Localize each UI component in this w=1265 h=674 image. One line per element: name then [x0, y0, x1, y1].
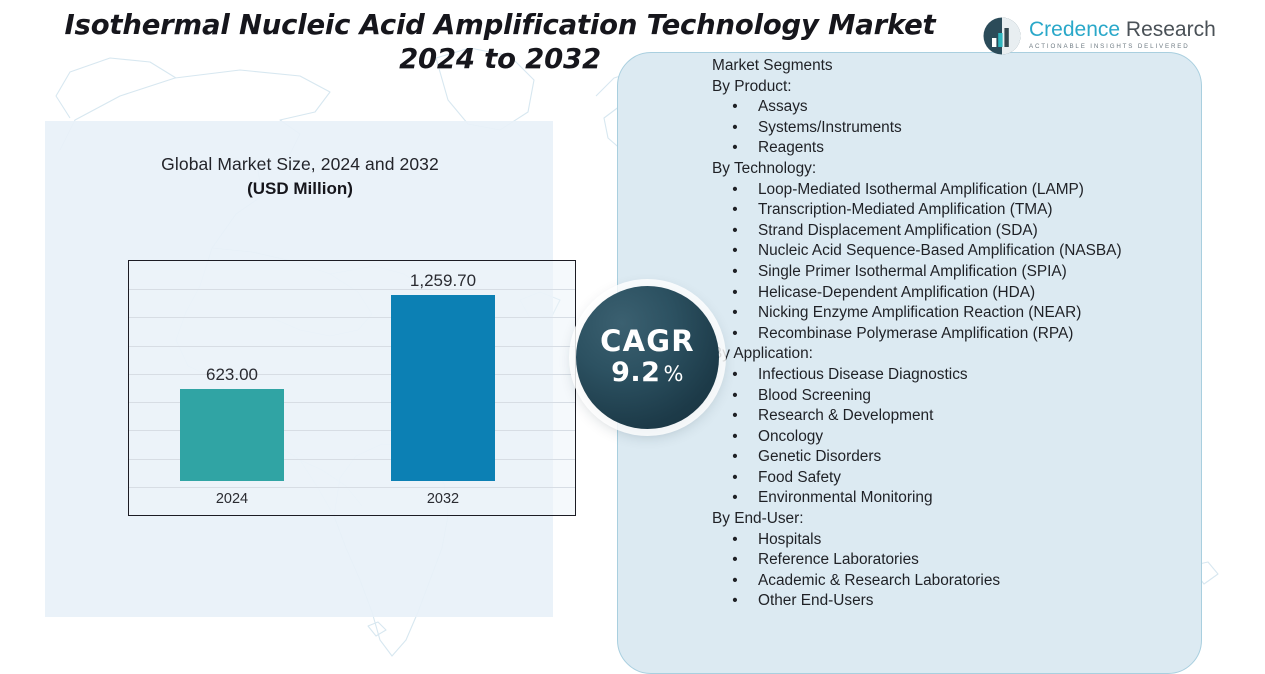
bullet-icon: •: [712, 200, 758, 221]
segment-list-item[interactable]: •Transcription-Mediated Amplification (T…: [712, 200, 1202, 221]
chart-heading: Global Market Size, 2024 and 2032 (USD M…: [60, 152, 540, 202]
segment-list-item[interactable]: •Research & Development: [712, 406, 1202, 427]
chart-bar-value-label: 623.00: [152, 365, 312, 385]
segment-list-item[interactable]: •Infectious Disease Diagnostics: [712, 365, 1202, 386]
bullet-icon: •: [712, 262, 758, 283]
segment-item-label: Infectious Disease Diagnostics: [758, 365, 1202, 386]
bullet-icon: •: [712, 530, 758, 551]
segment-item-label: Reagents: [758, 138, 1202, 159]
logo-word-credence: Credence: [1029, 18, 1120, 41]
segment-list-item[interactable]: •Strand Displacement Amplification (SDA): [712, 221, 1202, 242]
bullet-icon: •: [712, 488, 758, 509]
segment-item-label: Recombinase Polymerase Amplification (RP…: [758, 324, 1202, 345]
bullet-icon: •: [712, 138, 758, 159]
segment-list-item[interactable]: •Helicase-Dependent Amplification (HDA): [712, 283, 1202, 304]
market-segments-content: Market Segments By Product:•Assays•Syste…: [712, 56, 1202, 612]
segment-item-label: Academic & Research Laboratories: [758, 571, 1202, 592]
segment-item-label: Research & Development: [758, 406, 1202, 427]
segment-item-label: Transcription-Mediated Amplification (TM…: [758, 200, 1202, 221]
logo-tagline: Actionable Insights Delivered: [1029, 43, 1216, 50]
segment-list-item[interactable]: •Blood Screening: [712, 386, 1202, 407]
segment-list-item[interactable]: •Systems/Instruments: [712, 118, 1202, 139]
bullet-icon: •: [712, 427, 758, 448]
segment-item-label: Single Primer Isothermal Amplification (…: [758, 262, 1202, 283]
bullet-icon: •: [712, 365, 758, 386]
segment-list-item[interactable]: •Nucleic Acid Sequence-Based Amplificati…: [712, 241, 1202, 262]
segment-item-label: Nucleic Acid Sequence-Based Amplificatio…: [758, 241, 1202, 262]
logo-wordmark: Credence Research: [1029, 18, 1216, 41]
segment-list-item[interactable]: •Academic & Research Laboratories: [712, 571, 1202, 592]
bar-chart: 623.0020241,259.702032: [128, 260, 576, 516]
segment-group-title: By Product:: [712, 77, 1202, 98]
segment-group-title: By Technology:: [712, 159, 1202, 180]
chart-title: Global Market Size, 2024 and 2032: [60, 152, 540, 176]
segment-list-item[interactable]: •Nicking Enzyme Amplification Reaction (…: [712, 303, 1202, 324]
segment-list-item[interactable]: •Reagents: [712, 138, 1202, 159]
bullet-icon: •: [712, 468, 758, 489]
bar-chart-circle-icon: [982, 16, 1022, 56]
chart-subtitle: (USD Million): [60, 176, 540, 202]
segments-groups: By Product:•Assays•Systems/Instruments•R…: [712, 77, 1202, 612]
bullet-icon: •: [712, 221, 758, 242]
segment-list-item[interactable]: •Oncology: [712, 427, 1202, 448]
bullet-icon: •: [712, 118, 758, 139]
bullet-icon: •: [712, 550, 758, 571]
segment-list-item[interactable]: •Reference Laboratories: [712, 550, 1202, 571]
bullet-icon: •: [712, 571, 758, 592]
bullet-icon: •: [712, 97, 758, 118]
segment-item-label: Food Safety: [758, 468, 1202, 489]
segment-group-title: By Application:: [712, 344, 1202, 365]
bullet-icon: •: [712, 283, 758, 304]
segment-item-label: Systems/Instruments: [758, 118, 1202, 139]
cagr-badge: CAGR 9.2%: [576, 286, 719, 429]
cagr-number: 9.2: [611, 357, 660, 388]
segment-item-label: Hospitals: [758, 530, 1202, 551]
segments-heading: Market Segments: [712, 56, 1202, 77]
title-line-1: Isothermal Nucleic Acid Amplification Te…: [0, 8, 1000, 42]
bullet-icon: •: [712, 447, 758, 468]
chart-category-label: 2024: [172, 491, 292, 507]
segment-list-item[interactable]: •Other End-Users: [712, 591, 1202, 612]
segment-item-label: Loop-Mediated Isothermal Amplification (…: [758, 180, 1202, 201]
cagr-value: 9.2%: [611, 357, 684, 390]
segment-group-title: By End-User:: [712, 509, 1202, 530]
segment-list-item[interactable]: •Genetic Disorders: [712, 447, 1202, 468]
segment-list-item[interactable]: •Recombinase Polymerase Amplification (R…: [712, 324, 1202, 345]
chart-bar: [391, 295, 495, 481]
bullet-icon: •: [712, 386, 758, 407]
bullet-icon: •: [712, 324, 758, 345]
segment-item-label: Blood Screening: [758, 386, 1202, 407]
segment-list-item[interactable]: •Food Safety: [712, 468, 1202, 489]
chart-category-label: 2032: [383, 491, 503, 507]
chart-plot-area: 623.0020241,259.702032: [129, 261, 575, 515]
bullet-icon: •: [712, 180, 758, 201]
segment-item-label: Oncology: [758, 427, 1202, 448]
chart-bar-value-label: 1,259.70: [363, 271, 523, 291]
segment-item-label: Helicase-Dependent Amplification (HDA): [758, 283, 1202, 304]
segment-item-label: Genetic Disorders: [758, 447, 1202, 468]
bullet-icon: •: [712, 303, 758, 324]
segment-list-item[interactable]: •Loop-Mediated Isothermal Amplification …: [712, 180, 1202, 201]
bullet-icon: •: [712, 241, 758, 262]
segment-item-label: Strand Displacement Amplification (SDA): [758, 221, 1202, 242]
segment-item-label: Reference Laboratories: [758, 550, 1202, 571]
bullet-icon: •: [712, 406, 758, 427]
segment-item-label: Other End-Users: [758, 591, 1202, 612]
cagr-unit: %: [663, 362, 683, 386]
segment-item-label: Nicking Enzyme Amplification Reaction (N…: [758, 303, 1202, 324]
logo-word-research: Research: [1126, 18, 1216, 41]
segment-list-item[interactable]: •Assays: [712, 97, 1202, 118]
bullet-icon: •: [712, 591, 758, 612]
chart-bar: [180, 389, 284, 481]
segment-list-item[interactable]: •Single Primer Isothermal Amplification …: [712, 262, 1202, 283]
logo-text: Credence Research Actionable Insights De…: [1029, 16, 1216, 50]
segment-list-item[interactable]: •Environmental Monitoring: [712, 488, 1202, 509]
segment-item-label: Environmental Monitoring: [758, 488, 1202, 509]
segment-item-label: Assays: [758, 97, 1202, 118]
segment-list-item[interactable]: •Hospitals: [712, 530, 1202, 551]
cagr-label: CAGR: [600, 325, 695, 357]
